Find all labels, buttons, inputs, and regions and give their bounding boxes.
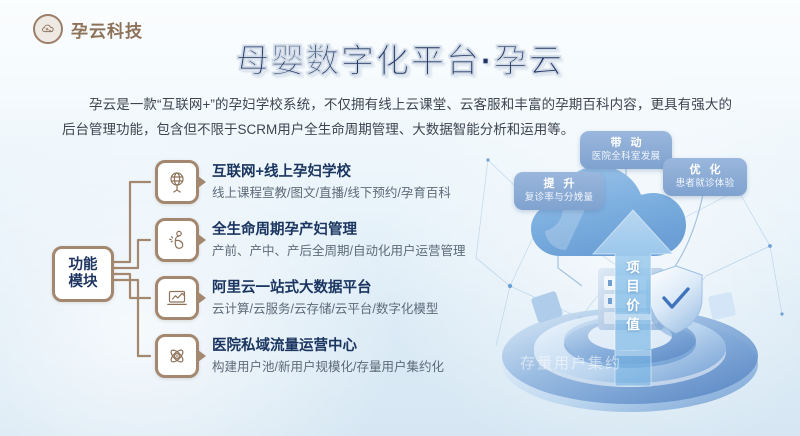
badge-subtitle: 患者就诊体验 xyxy=(672,177,738,190)
module-text: 医院私域流量运营中心 构建用户池/新用户规模化/存量用户集约化 xyxy=(212,336,444,377)
module-subtitle: 线上课程宣教/图文/直播/线下预约/孕育百科 xyxy=(212,183,451,203)
value-badge-drive[interactable]: 带 动 医院全科室发展 xyxy=(580,131,672,169)
module-item-private-traffic[interactable]: 医院私域流量运营中心 构建用户池/新用户规模化/存量用户集约化 xyxy=(155,334,444,378)
module-item-online-school[interactable]: 互联网+线上孕妇学校 线上课程宣教/图文/直播/线下预约/孕育百科 xyxy=(155,160,451,204)
module-title: 阿里云一站式大数据平台 xyxy=(212,278,438,298)
module-icon-wrap xyxy=(155,276,199,320)
project-value-label: 项目价值 xyxy=(622,258,644,334)
pregnant-woman-icon xyxy=(155,218,199,262)
laptop-chart-icon xyxy=(155,276,199,320)
module-subtitle: 构建用户池/新用户规模化/存量用户集约化 xyxy=(212,357,444,377)
badge-title: 带 动 xyxy=(589,136,663,150)
module-feature-list: 互联网+线上孕妇学校 线上课程宣教/图文/直播/线下预约/孕育百科 xyxy=(30,158,490,398)
module-text: 阿里云一站式大数据平台 云计算/云服务/云存储/云平台/数字化模型 xyxy=(212,278,438,319)
value-badge-raise[interactable]: 提 升 复诊率与分娩量 xyxy=(514,172,604,210)
function-modules-section: 功能 模块 互联网+线上孕妇学校 xyxy=(30,158,490,398)
badge-title: 优 化 xyxy=(672,163,738,177)
module-text: 全生命周期孕产妇管理 产前、产中、产后全周期/自动化用户运营管理 xyxy=(212,220,465,261)
module-subtitle: 产前、产中、产后全周期/自动化用户运营管理 xyxy=(212,241,465,261)
module-subtitle: 云计算/云服务/云存储/云平台/数字化模型 xyxy=(212,299,438,319)
module-title: 医院私域流量运营中心 xyxy=(212,336,444,356)
module-title: 互联网+线上孕妇学校 xyxy=(212,162,451,182)
atom-network-icon xyxy=(155,334,199,378)
module-icon-wrap xyxy=(155,160,199,204)
module-item-lifecycle-management[interactable]: 全生命周期孕产妇管理 产前、产中、产后全周期/自动化用户运营管理 xyxy=(155,218,465,262)
project-value-illustration: 带 动 医院全科室发展 提 升 复诊率与分娩量 优 化 患者就诊体验 项目价值 xyxy=(470,118,800,436)
module-icon-wrap xyxy=(155,218,199,262)
badge-subtitle: 医院全科室发展 xyxy=(589,150,663,163)
globe-network-icon xyxy=(155,160,199,204)
module-text: 互联网+线上孕妇学校 线上课程宣教/图文/直播/线下预约/孕育百科 xyxy=(212,162,451,203)
value-badge-optimize[interactable]: 优 化 患者就诊体验 xyxy=(663,158,747,196)
module-icon-wrap xyxy=(155,334,199,378)
module-item-bigdata-platform[interactable]: 阿里云一站式大数据平台 云计算/云服务/云存储/云平台/数字化模型 xyxy=(155,276,438,320)
badge-subtitle: 复诊率与分娩量 xyxy=(523,191,595,204)
badge-title: 提 升 xyxy=(523,177,595,191)
module-title: 全生命周期孕产妇管理 xyxy=(212,220,465,240)
slide-canvas: 孕云科技 母婴数字化平台·孕云 孕云是一款“互联网+”的孕妇学校系统，不仅拥有线… xyxy=(0,0,800,436)
page-title: 母婴数字化平台·孕云 xyxy=(0,34,800,82)
